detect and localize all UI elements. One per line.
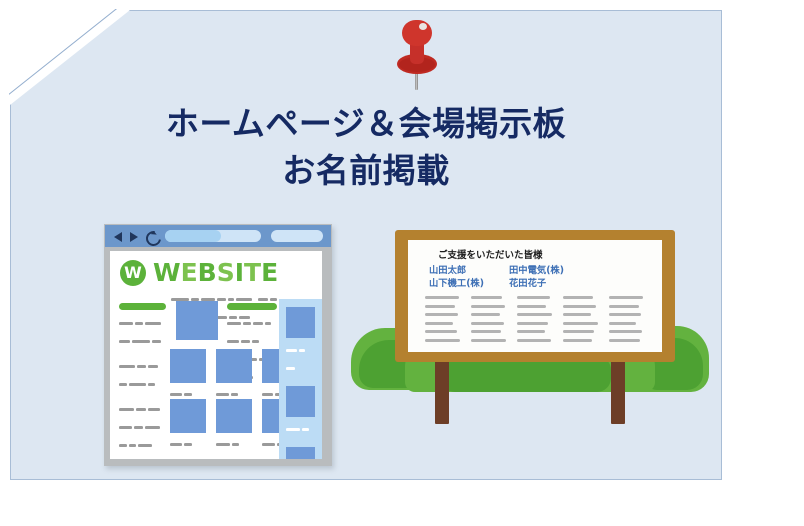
placeholder-column	[563, 296, 601, 347]
board-frame: ご支援をいただいた皆様 山田太郎 田中電気(株) 山下機工(株) 花田花子	[395, 230, 675, 362]
site-logo: W WEBSITE	[120, 258, 278, 287]
bulletin-board-illustration: ご支援をいただいた皆様 山田太郎 田中電気(株) 山下機工(株) 花田花子	[345, 228, 715, 458]
reload-icon[interactable]	[143, 228, 164, 249]
page-sidebar	[279, 299, 322, 459]
board-leg-right	[611, 358, 625, 424]
placeholder-column	[517, 296, 555, 347]
forward-icon[interactable]	[130, 232, 138, 242]
pushpin	[397, 18, 437, 90]
title-line-1: ホームページ＆会場掲示板	[166, 104, 566, 143]
section-heading-bar	[227, 303, 277, 310]
illustration-canvas: ホームページ＆会場掲示板 お名前掲載 W WEBSITE	[0, 0, 804, 526]
placeholder-column	[609, 296, 647, 347]
sidebar-card	[279, 378, 322, 439]
board-leg-left	[435, 358, 449, 424]
sidebar-card	[279, 439, 322, 459]
back-icon[interactable]	[114, 232, 122, 242]
grid-card	[216, 399, 252, 459]
board-name-row: 山田太郎 田中電気(株)	[429, 264, 649, 277]
board-name: 田中電気(株)	[509, 264, 564, 277]
page-title: ホームページ＆会場掲示板 お名前掲載	[10, 101, 722, 195]
sidebar-card	[279, 299, 322, 378]
left-text-column	[119, 303, 166, 459]
browser-toolbar	[105, 225, 331, 247]
browser-window-illustration: W WEBSITE	[104, 224, 332, 466]
board-placeholder-names	[425, 296, 647, 347]
search-input[interactable]	[271, 230, 323, 242]
pushpin-head-icon	[402, 20, 432, 46]
browser-page-content: W WEBSITE	[110, 251, 322, 459]
board-name-list: 山田太郎 田中電気(株) 山下機工(株) 花田花子	[429, 264, 649, 291]
address-fill	[165, 230, 221, 242]
board-name: 山下機工(株)	[429, 277, 509, 290]
media-placeholder	[176, 301, 218, 340]
section-heading-bar	[119, 303, 166, 310]
address-input[interactable]	[165, 230, 261, 242]
pushpin-highlight	[419, 23, 427, 30]
board-poster: ご支援をいただいた皆様 山田太郎 田中電気(株) 山下機工(株) 花田花子	[408, 240, 662, 352]
logo-mark-icon: W	[120, 260, 146, 286]
logo-text: WEBSITE	[153, 258, 278, 287]
placeholder-column	[471, 296, 509, 347]
title-line-2: お名前掲載	[10, 148, 722, 195]
board-name: 花田花子	[509, 277, 546, 290]
board-name-row: 山下機工(株) 花田花子	[429, 277, 649, 290]
text-block	[119, 358, 166, 394]
text-block	[119, 401, 166, 455]
placeholder-column	[425, 296, 463, 347]
grid-card	[170, 399, 206, 459]
board-name: 山田太郎	[429, 264, 509, 277]
text-block	[119, 315, 166, 351]
board-heading: ご支援をいただいた皆様	[438, 247, 543, 261]
